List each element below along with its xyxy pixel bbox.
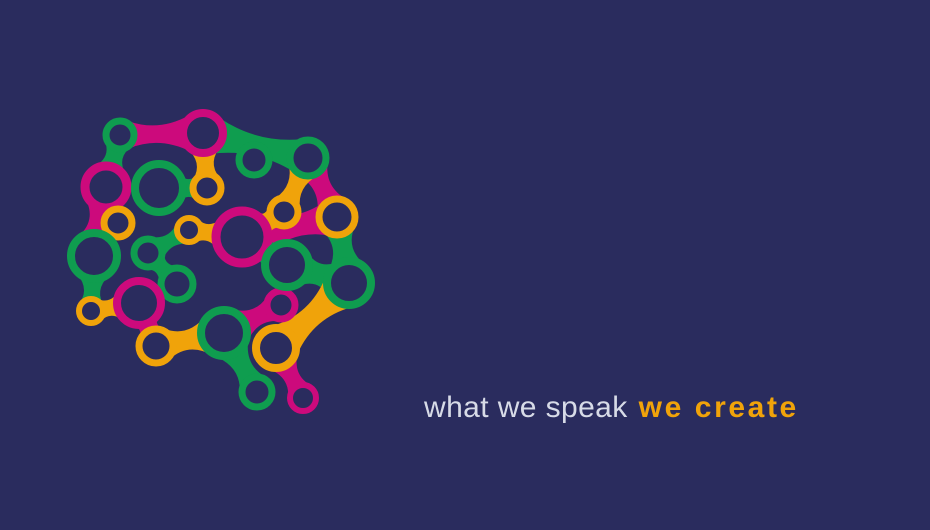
logo-node-ring bbox=[265, 243, 309, 287]
logo-node-ring bbox=[327, 261, 371, 305]
logo-node-ring bbox=[201, 310, 247, 356]
tagline-plain-text: what we speak bbox=[424, 391, 628, 425]
logo-node-ring bbox=[239, 145, 269, 175]
logo-node-ring bbox=[256, 328, 296, 368]
logo-node-ring bbox=[270, 198, 298, 226]
tagline-accent-text: we create bbox=[639, 391, 799, 425]
logo-node-ring bbox=[135, 164, 183, 212]
logo-node-ring bbox=[104, 209, 132, 237]
logo-node-ring bbox=[290, 385, 316, 411]
brain-network-svg bbox=[55, 95, 445, 440]
logo-node-ring bbox=[79, 299, 103, 323]
logo-node-ring bbox=[193, 174, 221, 202]
logo-node-ring bbox=[134, 239, 162, 267]
logo-node-ring bbox=[106, 121, 134, 149]
logo-node-ring bbox=[290, 140, 326, 176]
logo-node-ring bbox=[177, 218, 201, 242]
logo-node-ring bbox=[216, 211, 268, 263]
logo-node-ring bbox=[161, 268, 193, 300]
logo-node-ring bbox=[85, 166, 127, 208]
brain-network-logo bbox=[55, 95, 445, 440]
logo-node-ring bbox=[139, 329, 173, 363]
logo-node-ring bbox=[242, 377, 272, 407]
logo-node-ring bbox=[319, 199, 355, 235]
tagline: what we speak we create bbox=[424, 386, 799, 430]
logo-node-ring bbox=[71, 233, 117, 279]
logo-node-ring bbox=[267, 291, 295, 319]
logo-node-ring bbox=[183, 113, 223, 153]
logo-node-ring bbox=[117, 281, 161, 325]
splash-canvas: what we speak we create bbox=[0, 0, 930, 530]
